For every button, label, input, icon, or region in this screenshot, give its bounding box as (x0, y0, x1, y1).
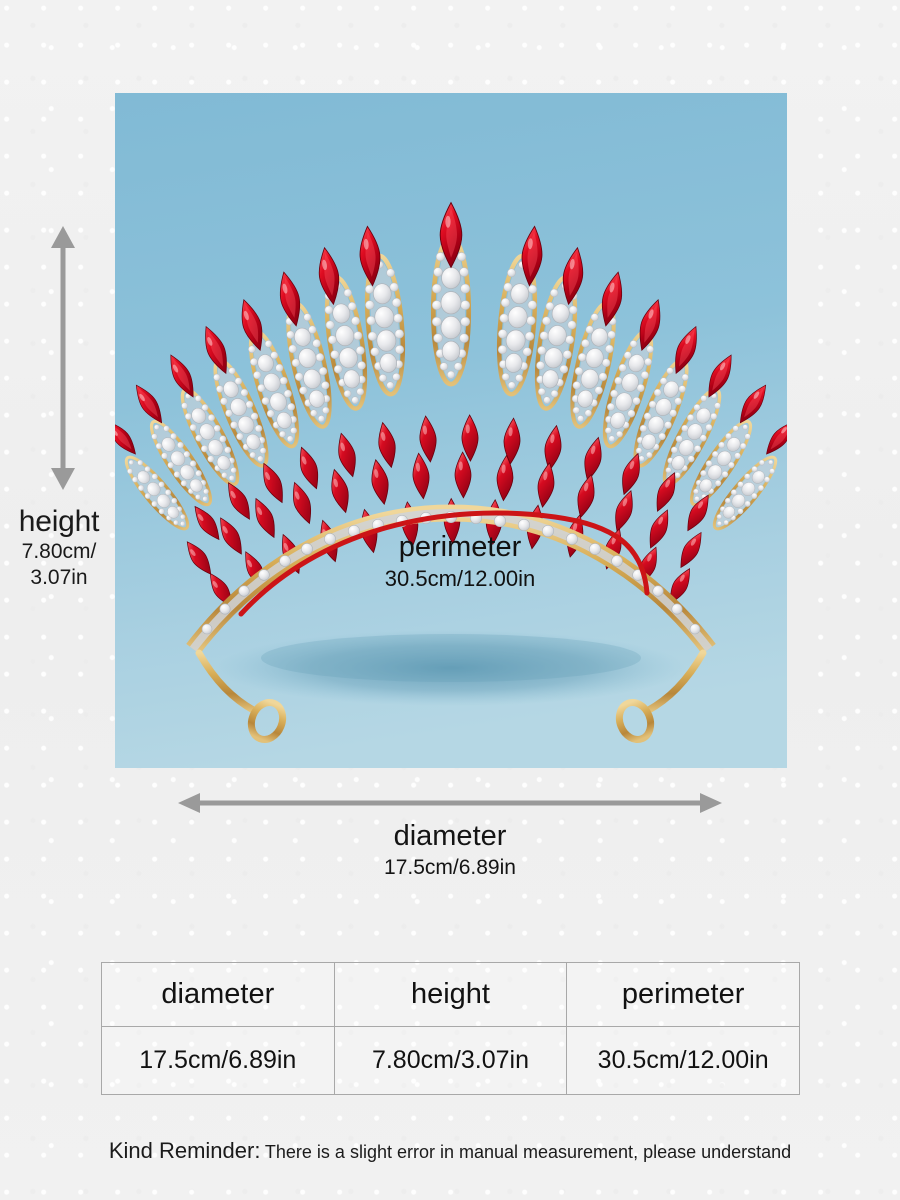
table-header-diameter: diameter (102, 963, 335, 1027)
table-header-height: height (334, 963, 567, 1027)
perimeter-label-title: perimeter (250, 530, 670, 564)
height-label-title: height (0, 505, 118, 539)
height-arrow-icon (47, 224, 79, 492)
tiara-illustration (115, 93, 787, 768)
table-value-height: 7.80cm/3.07in (334, 1027, 567, 1095)
diameter-label: diameter 17.5cm/6.89in (176, 818, 724, 882)
measurement-infographic: perimeter 30.5cm/12.00in height 7.80cm/ … (0, 0, 900, 1200)
height-label-value-cm: 7.80cm/ (0, 539, 118, 565)
kind-reminder-body: There is a slight error in manual measur… (265, 1142, 791, 1162)
perimeter-label-value: 30.5cm/12.00in (250, 564, 670, 594)
height-label: height 7.80cm/ 3.07in (0, 505, 118, 591)
kind-reminder: Kind Reminder: There is a slight error i… (0, 1138, 900, 1164)
specification-table: diameter height perimeter 17.5cm/6.89in … (101, 962, 800, 1095)
diameter-label-value: 17.5cm/6.89in (176, 854, 724, 882)
product-photo (115, 93, 787, 768)
perimeter-label: perimeter 30.5cm/12.00in (250, 530, 670, 594)
diameter-label-title: diameter (176, 818, 724, 854)
table-value-row: 17.5cm/6.89in 7.80cm/3.07in 30.5cm/12.00… (102, 1027, 800, 1095)
diameter-arrow-icon (176, 790, 724, 816)
table-value-diameter: 17.5cm/6.89in (102, 1027, 335, 1095)
table-header-perimeter: perimeter (567, 963, 800, 1027)
kind-reminder-lead: Kind Reminder: (109, 1138, 261, 1163)
table-header-row: diameter height perimeter (102, 963, 800, 1027)
table-value-perimeter: 30.5cm/12.00in (567, 1027, 800, 1095)
height-label-value-in: 3.07in (0, 565, 118, 591)
